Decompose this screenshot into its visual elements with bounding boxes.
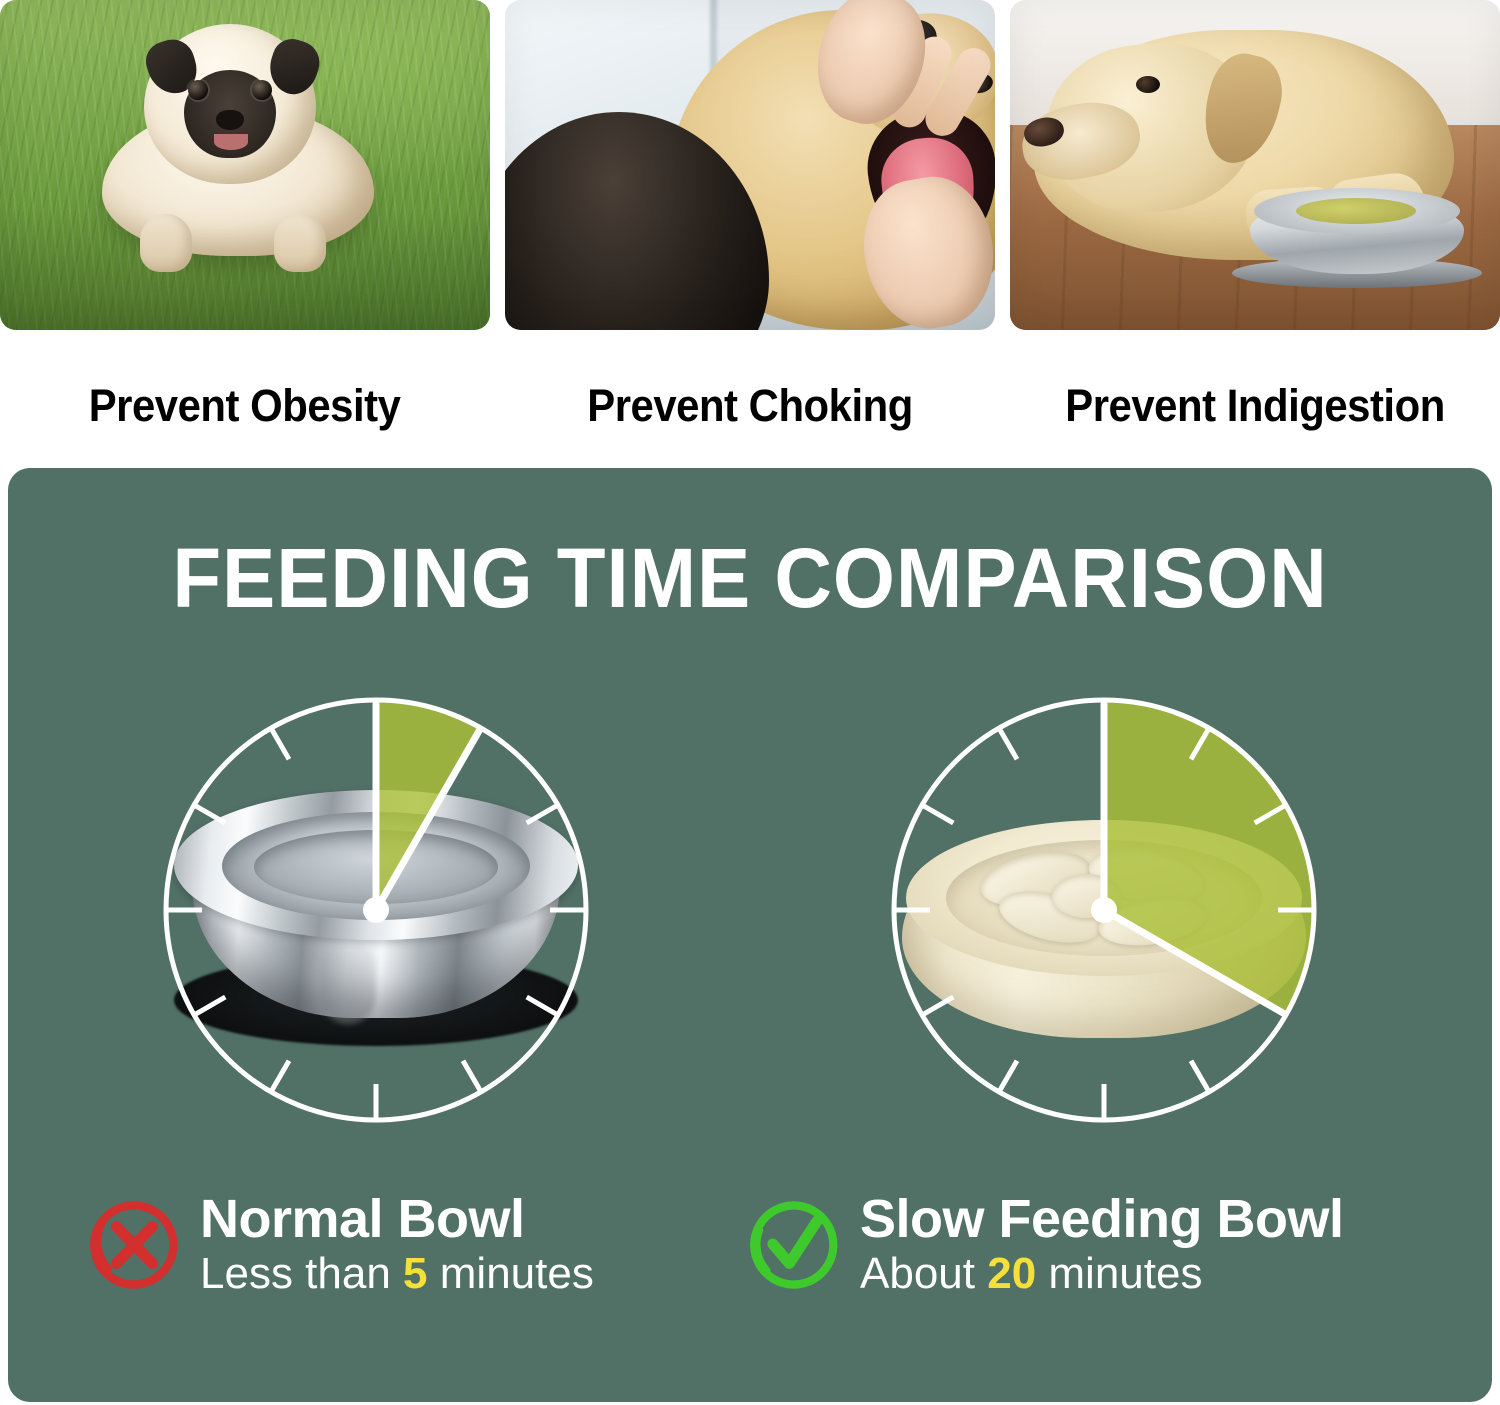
slow-feeding-bowl-duration: About 20 minutes [860,1249,1344,1298]
photo-vignette [1010,0,1500,330]
normal-bowl-duration: Less than 5 minutes [200,1249,594,1298]
photo-vignette [0,0,490,330]
slow-feeding-bowl-title: Slow Feeding Bowl [860,1191,1344,1247]
dial-center-cap [1091,897,1117,923]
benefit-photo-prevent-choking [505,0,995,330]
caption-cell-prevent-obesity: Prevent Obesity [0,330,490,468]
check-circle-icon [748,1199,840,1291]
caption-prevent-obesity: Prevent Obesity [89,380,401,432]
slow-feeding-bowl-duration-value: 20 [987,1249,1036,1298]
cross-circle-icon [88,1199,180,1291]
normal-bowl-dial [146,680,606,1140]
normal-bowl-clock-column [26,680,726,1150]
caption-prevent-indigestion: Prevent Indigestion [1065,380,1445,432]
feeding-time-comparison-panel: FEEDING TIME COMPARISON [8,468,1492,1402]
slow-feeding-bowl-result: Slow Feeding Bowl About 20 minutes [748,1180,1448,1310]
normal-bowl-duration-suffix: minutes [440,1249,594,1298]
normal-bowl-duration-value: 5 [403,1249,427,1298]
normal-bowl-clock [146,680,606,1140]
slow-feeding-bowl-clock [874,680,1334,1140]
slow-feeding-bowl-result-text: Slow Feeding Bowl About 20 minutes [860,1191,1344,1298]
benefit-photo-prevent-obesity [0,0,490,330]
normal-bowl-result-text: Normal Bowl Less than 5 minutes [200,1191,594,1298]
normal-bowl-duration-prefix: Less than [200,1249,391,1298]
slow-feeding-bowl-duration-suffix: minutes [1048,1249,1202,1298]
page-title: FEEDING TIME COMPARISON [45,530,1455,627]
caption-prevent-choking: Prevent Choking [587,380,913,432]
caption-cell-prevent-choking: Prevent Choking [505,330,995,468]
slow-feeding-bowl-clock-column [754,680,1454,1150]
normal-bowl-title: Normal Bowl [200,1191,594,1247]
caption-cell-prevent-indigestion: Prevent Indigestion [1010,330,1500,468]
benefit-photo-strip [0,0,1500,330]
dial-center-cap [363,897,389,923]
slow-feeding-bowl-duration-prefix: About [860,1249,975,1298]
photo-vignette [505,0,995,330]
normal-bowl-result: Normal Bowl Less than 5 minutes [88,1180,788,1310]
benefit-photo-prevent-indigestion [1010,0,1500,330]
slow-feeding-bowl-dial [874,680,1334,1140]
benefit-caption-row: Prevent Obesity Prevent Choking Prevent … [0,330,1500,468]
